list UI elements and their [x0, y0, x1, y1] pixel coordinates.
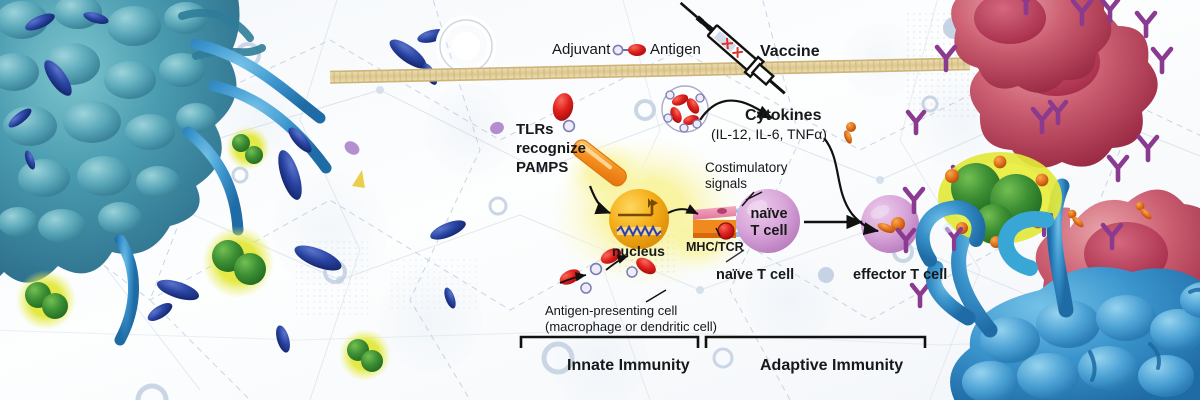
- adjuvant-antigen-legend-glyph: [613, 44, 646, 56]
- antigen-label: Antigen: [650, 41, 701, 58]
- mhc-tcr-label: MHC/TCR: [686, 240, 744, 254]
- naive-line-1: naïve: [742, 206, 796, 223]
- tlr-annotation: TLRs recognize PAMPS: [516, 120, 586, 177]
- adjuvant-label: Adjuvant: [552, 41, 610, 58]
- costimulatory-signals-label: Costimulatory signals: [705, 160, 788, 192]
- tlr-line-1: TLRs: [516, 120, 586, 139]
- nucleus: [609, 189, 669, 249]
- immunology-illustration: Adjuvant Antigen Vaccine TLRs recognize …: [0, 0, 1200, 400]
- costim-line-2: signals: [705, 176, 788, 192]
- adaptive-bracket: [706, 337, 925, 348]
- focus-ring: [440, 20, 492, 72]
- naive-t-cell-inline-label: naïve T cell: [742, 206, 796, 240]
- immunity-brackets: [521, 337, 925, 348]
- tlr-line-3: PAMPS: [516, 158, 586, 177]
- leader-apc: [646, 290, 666, 302]
- naive-line-2: T cell: [742, 223, 796, 240]
- tlr-line-2: recognize: [516, 139, 586, 158]
- lipid-membrane-band: [330, 57, 970, 83]
- effector-t-cell-caption: effector T cell: [853, 267, 947, 283]
- cytokines-title: Cytokines: [745, 107, 821, 125]
- apc-line-2: (macrophage or dendritic cell): [545, 319, 717, 335]
- costim-line-1: Costimulatory: [705, 160, 788, 176]
- nucleus-label: nucleus: [612, 243, 665, 259]
- innate-immunity-label: Innate Immunity: [567, 357, 690, 375]
- apc-line-1: Antigen-presenting cell: [545, 303, 717, 319]
- cytokines-list: (IL-12, IL-6, TNFα): [711, 126, 827, 142]
- innate-bracket: [521, 337, 698, 348]
- vaccine-label: Vaccine: [760, 43, 820, 61]
- effector-t-cell: [861, 195, 919, 253]
- apc-caption: Antigen-presenting cell (macrophage or d…: [545, 303, 717, 335]
- naive-t-cell-caption: naïve T cell: [716, 267, 794, 283]
- adaptive-immunity-label: Adaptive Immunity: [760, 357, 903, 375]
- macrophage-cell-right: [923, 152, 1200, 400]
- cells-layer: [0, 0, 1200, 400]
- antigen-vesicle: [662, 86, 708, 132]
